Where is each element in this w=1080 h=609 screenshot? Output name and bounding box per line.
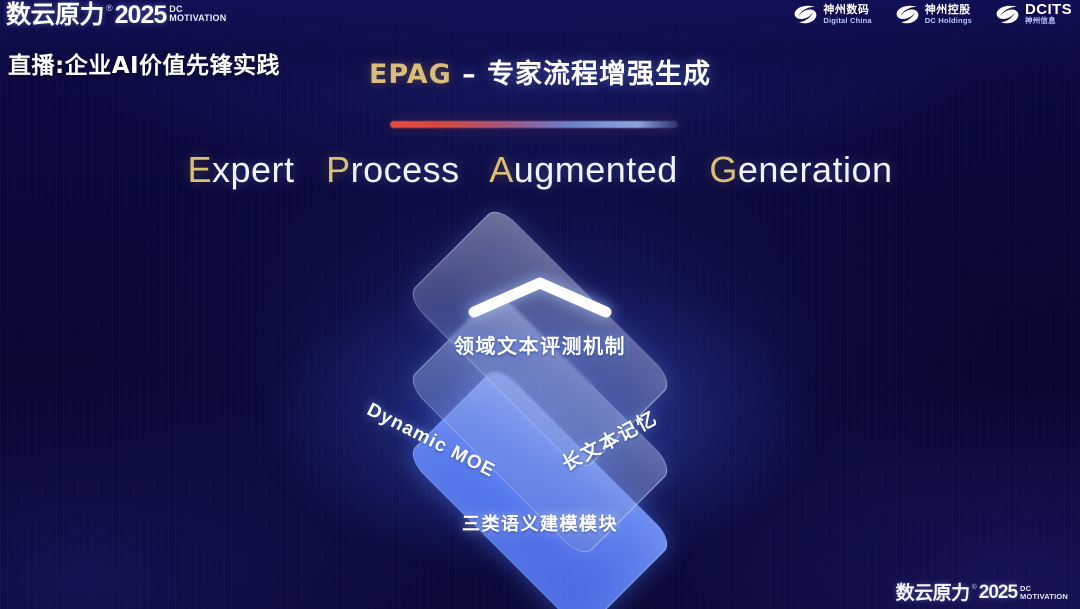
spiral-logo-icon	[894, 4, 920, 26]
slide-canvas: 数云原力 ® 2025 DC MOTIVATION 直播:企业AI价值先锋实践 …	[0, 0, 1080, 609]
logo-dcits: DCITS 神州信息	[994, 4, 1072, 26]
word-cap: G	[709, 149, 738, 190]
spiral-logo-icon	[994, 4, 1020, 26]
word-cap: P	[326, 149, 351, 190]
spiral-logo-icon	[792, 4, 818, 26]
logo-en-label: DCITS	[1025, 4, 1072, 15]
brand-dc-line2: MOTIVATION	[169, 14, 226, 23]
layer-label-top: 领域文本评测机制	[454, 330, 626, 359]
word-space	[688, 149, 699, 190]
slide-title-chinese: EPAG – 专家流程增强生成	[0, 52, 1080, 91]
logo-dc-holdings: 神州控股 DC Holdings	[894, 4, 972, 26]
word-cap: E	[187, 149, 212, 190]
slide-title-english: Expert Process Augmented Generation	[0, 149, 1080, 191]
brand-dc-line2: MOTIVATION	[1020, 593, 1068, 601]
title-dash: –	[452, 59, 487, 90]
brand-year: 2025	[979, 583, 1017, 603]
word-rest: eneration	[738, 149, 893, 190]
title-divider-gradient-bar	[390, 121, 678, 128]
word-rest: rocess	[351, 149, 460, 190]
word-space	[470, 149, 481, 190]
brand-logo-bottom-right: 数云原力 ® 2025 DC MOTIVATION	[896, 583, 1068, 603]
title-word-expert: Expert	[187, 149, 294, 190]
title-word-generation: Generation	[709, 149, 892, 190]
logo-text-digital-china: 神州数码 Digital China	[823, 4, 871, 26]
logo-text-dcits: DCITS 神州信息	[1025, 4, 1072, 26]
logo-en-label: Digital China	[823, 15, 871, 26]
word-cap: A	[489, 149, 514, 190]
brand-year: 2025	[115, 2, 167, 28]
brand-logo-top-left: 数云原力 ® 2025 DC MOTIVATION	[6, 2, 226, 28]
partner-logo-row: 神州数码 Digital China 神州控股 DC Holdings	[792, 4, 1072, 26]
layer-stack-diagram: 领域文本评测机制 Dynamic MOE 长文本记忆 三类语义建模模块	[266, 222, 814, 582]
title-word-augmented: Augmented	[489, 149, 678, 190]
brand-dc-motivation: DC MOTIVATION	[1020, 585, 1068, 601]
chevron-up-icon	[466, 274, 614, 320]
layer-label-bottom: 三类语义建模模块	[462, 510, 618, 536]
logo-text-dc-holdings: 神州控股 DC Holdings	[925, 4, 972, 26]
title-acronym: EPAG	[369, 59, 452, 90]
title-chinese-text: 专家流程增强生成	[487, 59, 711, 90]
word-rest: xpert	[212, 149, 295, 190]
word-space	[305, 149, 316, 190]
title-word-process: Process	[326, 149, 460, 190]
logo-en-label: DC Holdings	[925, 15, 972, 26]
logo-digital-china: 神州数码 Digital China	[792, 4, 871, 26]
brand-registered-mark: ®	[106, 2, 113, 14]
logo-cn-label: 神州信息	[1025, 15, 1072, 26]
brand-name-cn: 数云原力	[896, 583, 970, 603]
brand-dc-motivation: DC MOTIVATION	[169, 5, 226, 23]
logo-cn-label: 神州数码	[823, 4, 871, 15]
brand-registered-mark: ®	[972, 583, 977, 592]
brand-name-cn: 数云原力	[6, 2, 104, 28]
logo-cn-label: 神州控股	[925, 4, 972, 15]
word-rest: ugmented	[514, 149, 678, 190]
